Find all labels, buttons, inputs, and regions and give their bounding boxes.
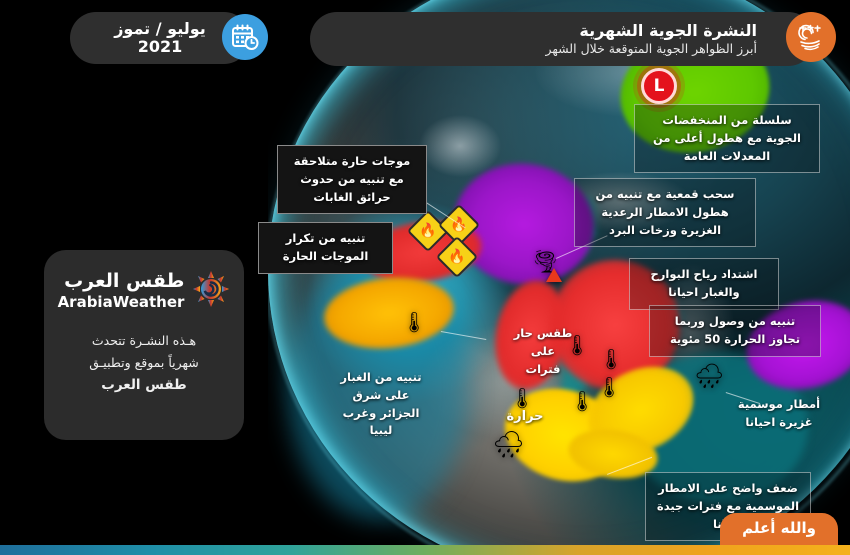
thermometer-icon-3: 🌡 [600,344,622,374]
callout-repeated-heatwaves: تنبيه من تكرار الموجات الحارة [258,222,393,274]
callout-bawarih-winds-dust: اشتداد رياح البوارح والغبار احيانا [629,258,779,310]
low-pressure-label: L [654,76,665,96]
brand-description-line2: شهرياً بموقع وتطبيـق [89,355,199,370]
callout-dust-algeria-libya: تنبيه من الغبار على شرق الجزائر وغرب ليب… [326,362,436,447]
date-year: 2021 [138,38,183,56]
fire-glyph: 🔥 [448,250,465,264]
brand-description-line1: هـذه النشـرة تتحدث [92,333,196,348]
calendar-clock-icon [222,14,268,60]
thermometer-glyph: 🌡 [598,349,623,369]
callout-low-pressure-series: سلسلة من المنخفضات الجوية مع هطول أعلى م… [634,104,820,173]
low-pressure-marker: L [641,68,677,104]
page-subtitle: أبرز الظواهر الجوية المتوقعة خلال الشهر [546,41,758,57]
page-title: النشرة الجوية الشهرية [546,21,758,41]
brand-description: هـذه النشـرة تتحدث شهرياً بموقع وتطبيـق … [75,330,213,397]
cyclone-icon [786,12,836,62]
rain-cloud-glyph: 🌧 [492,430,525,460]
monsoon-rain-cloud-icon: 🌧 [694,364,724,388]
brand-name-ar: طقس العرب [64,270,184,292]
brand-description-line3: طقس العرب [101,377,187,393]
sun-spiral-logo-icon [192,270,230,312]
callout-heatwaves-wildfires: موجات حارة متلاحقة مع تنبيه من حدوث حرائ… [277,145,427,214]
callout-heat-above-50: تنبيه من وصول وربما تجاوز الحرارة 50 مئو… [649,305,821,357]
brand-name-en: ArabiaWeather [58,293,185,311]
infographic-canvas: L 🔥 🔥 🔥 🌪 🌡 🌡 🌡 🌡 🌡 🌡 🌧 🌧 يول [0,0,850,555]
callout-thunderstorm-hail: سحب قمعية مع تنبيه من هطول الامطار الرعد… [574,178,756,247]
brand-panel: طقس العرب ArabiaWeather هـذه النشـرة تتح… [44,250,244,440]
callout-hot-periods: طقس حار على فترات [503,318,583,385]
fire-glyph: 🔥 [419,224,436,238]
footer-gradient-bar [0,545,850,555]
callout-heavy-monsoon-rain: أمطار موسمية غزيرة احيانا [727,389,831,439]
brand-logo-row: طقس العرب ArabiaWeather [58,270,231,312]
date-month: يوليو / تموز [114,20,206,38]
rain-cloud-glyph: 🌧 [694,362,724,390]
thermometer-glyph: 🌡 [596,377,621,397]
callout-heat-label: حرارة [493,400,557,434]
thermometer-glyph: 🌡 [401,312,426,332]
thermometer-icon-1: 🌡 [403,307,425,337]
header-title-bar: النشرة الجوية الشهرية أبرز الظواهر الجوي… [310,12,815,66]
disclaimer-badge: والله أعلم [720,513,838,545]
rain-cloud-icon: 🌧 [492,432,525,458]
thermometer-glyph: 🌡 [569,391,594,411]
thermometer-icon-5: 🌡 [571,386,593,416]
hazard-triangle-icon [546,268,562,282]
thermometer-icon-4: 🌡 [598,372,620,402]
